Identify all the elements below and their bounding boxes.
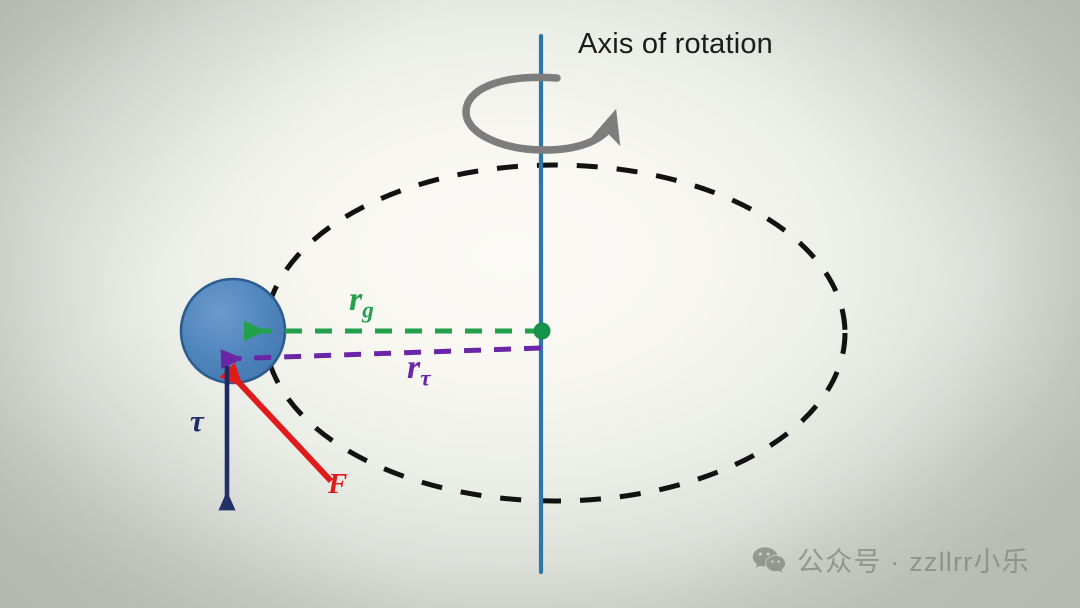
label-force-F: F [328,470,347,499]
label-r-g: rg [349,283,374,323]
diagram-canvas: Axis of rotation rg rτ τ F 公众号 · zzllrr小… [0,0,1080,608]
axis-center-dot [534,323,551,340]
label-r-tau: rτ [407,351,431,391]
diagram-svg [0,0,1080,608]
label-torque-tau: τ [190,405,204,436]
force-vector-F [229,372,331,481]
watermark-text: 公众号 · zzllrr小乐 [797,540,1030,579]
label-r-g-subscript: g [362,297,374,323]
wechat-icon [752,546,786,574]
watermark: 公众号 · zzllrr小乐 [752,540,1030,579]
label-r-g-base: r [349,281,362,318]
axis-of-rotation-title: Axis of rotation [578,28,773,61]
label-r-tau-base: r [407,349,420,386]
label-r-tau-subscript: τ [420,365,430,391]
